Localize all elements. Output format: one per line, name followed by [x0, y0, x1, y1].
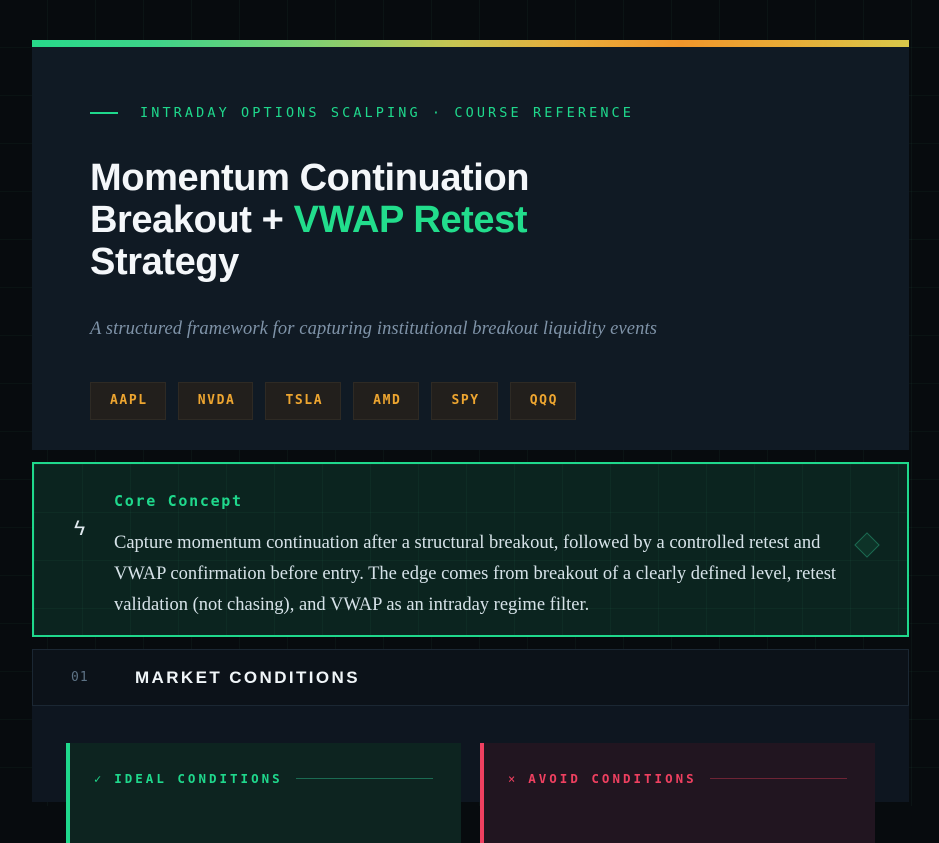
avoid-conditions-label: AVOID CONDITIONS [528, 771, 696, 786]
avoid-conditions-card: × AVOID CONDITIONS [480, 743, 875, 843]
breadcrumb: INTRADAY OPTIONS SCALPING · COURSE REFER… [90, 105, 851, 121]
core-concept-title: Core Concept [114, 492, 867, 510]
ticker-badge[interactable]: AMD [353, 382, 419, 420]
title-part-2: Strategy [90, 241, 239, 283]
divider [710, 778, 847, 779]
divider [296, 778, 433, 779]
hero-section: INTRADAY OPTIONS SCALPING · COURSE REFER… [32, 47, 909, 450]
ideal-conditions-label: IDEAL CONDITIONS [114, 771, 282, 786]
card-accent-edge [66, 743, 70, 843]
section-title: MARKET CONDITIONS [135, 668, 360, 688]
page-title: Momentum Continuation Breakout + VWAP Re… [90, 157, 560, 283]
section-body: ✓ IDEAL CONDITIONS × AVOID CONDITIONS [32, 706, 909, 802]
card-header: × AVOID CONDITIONS [508, 771, 875, 786]
section-market-conditions: 01 MARKET CONDITIONS ✓ IDEAL CONDITIONS … [32, 649, 909, 802]
gradient-accent-bar [32, 40, 909, 47]
document-frame: INTRADAY OPTIONS SCALPING · COURSE REFER… [32, 40, 909, 830]
card-header: ✓ IDEAL CONDITIONS [94, 771, 461, 786]
eyebrow-label: INTRADAY OPTIONS SCALPING · COURSE REFER… [140, 105, 634, 121]
section-number: 01 [71, 670, 135, 685]
page-subtitle: A structured framework for capturing ins… [90, 319, 851, 340]
ticker-badge[interactable]: AAPL [90, 382, 166, 420]
core-concept-body: Core Concept Capture momentum continuati… [114, 490, 867, 609]
ticker-badge[interactable]: QQQ [510, 382, 576, 420]
ideal-conditions-card: ✓ IDEAL CONDITIONS [66, 743, 461, 843]
check-icon: ✓ [94, 772, 101, 786]
lightning-bolt-icon: ϟ [74, 490, 114, 609]
ticker-badge-list: AAPL NVDA TSLA AMD SPY QQQ [90, 382, 851, 420]
section-header: 01 MARKET CONDITIONS [32, 649, 909, 706]
dash-icon [90, 112, 118, 114]
ticker-badge[interactable]: SPY [431, 382, 497, 420]
ticker-badge[interactable]: NVDA [178, 382, 254, 420]
ticker-badge[interactable]: TSLA [265, 382, 341, 420]
card-accent-edge [480, 743, 484, 843]
condition-card-list: ✓ IDEAL CONDITIONS × AVOID CONDITIONS [66, 743, 875, 843]
cross-icon: × [508, 772, 515, 786]
title-highlight: VWAP Retest [294, 199, 528, 241]
core-concept-callout: ϟ Core Concept Capture momentum continua… [32, 462, 909, 637]
core-concept-text: Capture momentum continuation after a st… [114, 528, 867, 621]
